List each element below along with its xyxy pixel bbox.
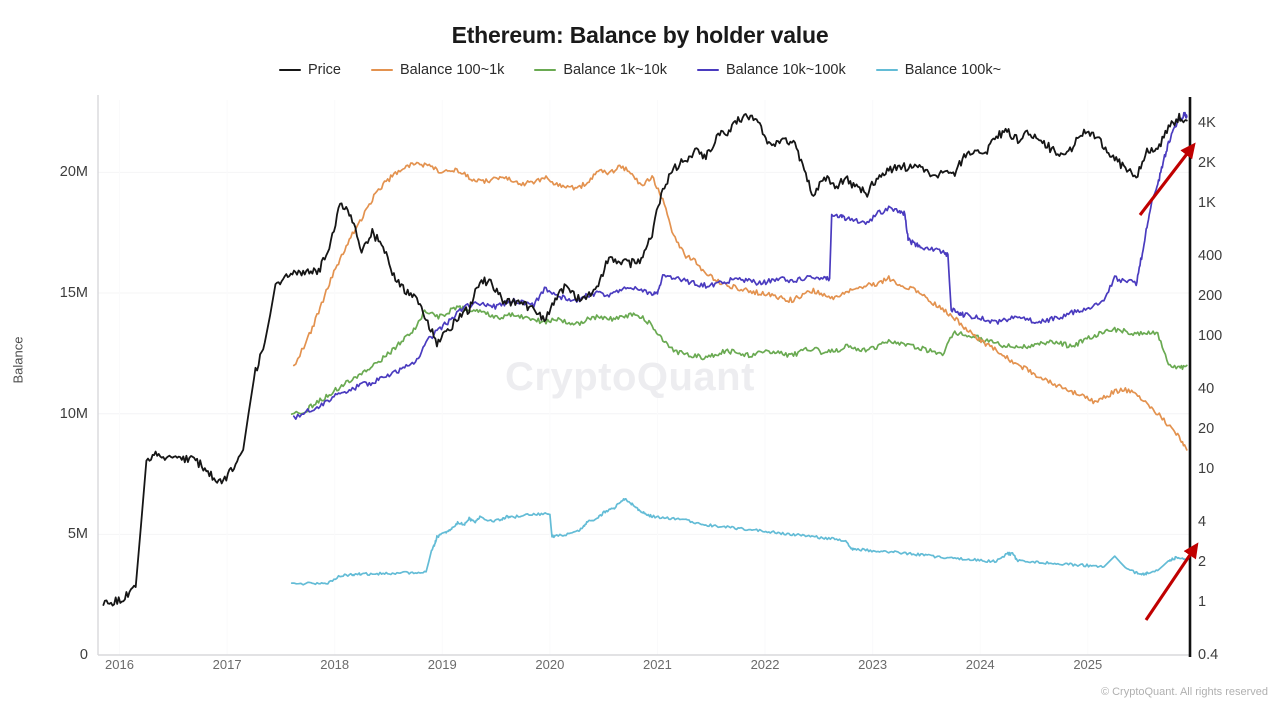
red-arrow-lower [1146, 546, 1196, 620]
series-line-price [103, 114, 1186, 606]
chart-container: Ethereum: Balance by holder value PriceB… [0, 0, 1280, 720]
series-line-balance-100k [292, 499, 1187, 585]
copyright-notice: © CryptoQuant. All rights reserved [1101, 686, 1268, 698]
red-arrow-upper [1140, 146, 1193, 215]
series-line-balance-1k-10k [292, 306, 1187, 414]
series-line-balance-100-1k [294, 163, 1187, 450]
plot-area [0, 0, 1280, 720]
series-line-balance-10k-100k [294, 113, 1187, 420]
